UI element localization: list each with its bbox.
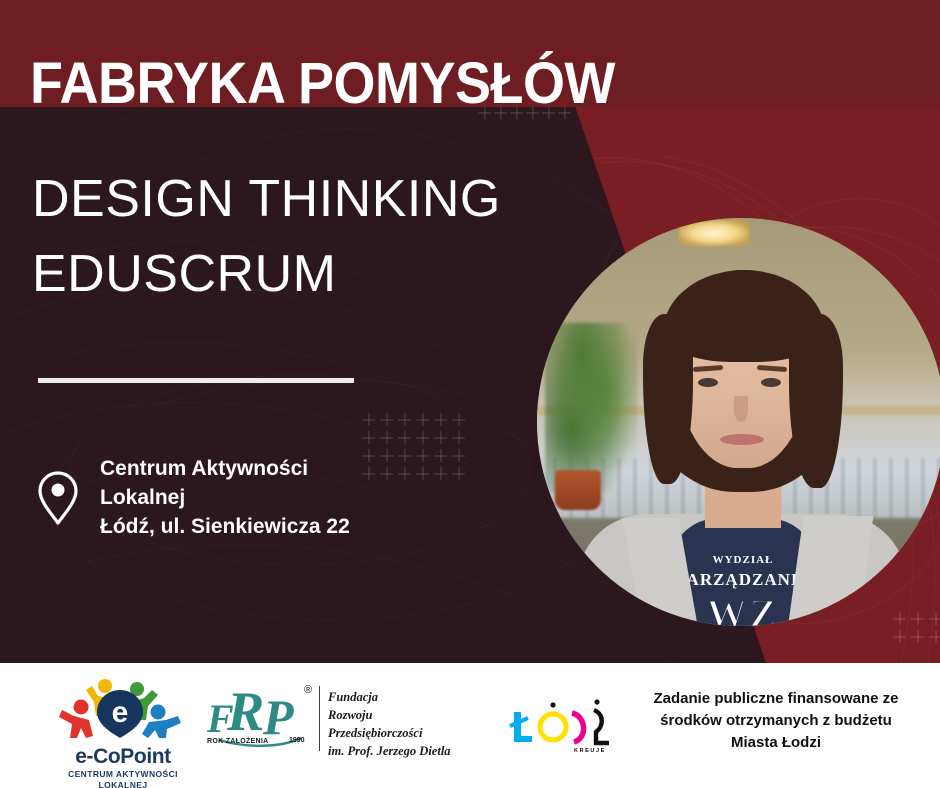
frp-vertical-divider — [319, 686, 320, 751]
photo-flower-pot — [555, 470, 601, 510]
svg-text:R: R — [226, 682, 264, 743]
photo-eye-left — [698, 378, 718, 387]
tshirt-line-1: WYDZIAŁ — [669, 554, 817, 566]
frp-mark-icon: F R P ® ROK ZAŁOŻENIA 1990 — [205, 682, 317, 756]
page-title: FABRYKA POMYSŁÓW — [30, 55, 615, 107]
divider-rule — [38, 378, 354, 383]
ecopoint-mark-icon: e — [48, 676, 198, 738]
photo-nose — [734, 396, 748, 422]
logo-ecopoint: e e-CoPoint CENTRUM AKTYWNOŚCI LOKALNEJ — [48, 676, 198, 788]
ecopoint-wordmark: e-CoPoint — [48, 745, 198, 769]
ecopoint-tagline: CENTRUM AKTYWNOŚCI LOKALNEJ — [48, 769, 198, 788]
headline: DESIGN THINKING EDUSCRUM — [32, 162, 501, 313]
location-block: Centrum Aktywności Lokalnej Łódź, ul. Si… — [36, 455, 506, 542]
logo-frp: F R P ® ROK ZAŁOŻENIA 1990 Fundacja Rozw… — [205, 682, 451, 761]
poster-canvas: WYDZIAŁ ZARZĄDZANIA WZ FABRYKA POMYSŁÓW … — [0, 0, 940, 788]
frp-foundation-name: Fundacja Rozwoju Przedsiębiorczości im. … — [328, 682, 451, 761]
header-band: FABRYKA POMYSŁÓW — [0, 0, 940, 107]
location-address: Centrum Aktywności Lokalnej Łódź, ul. Si… — [100, 455, 350, 542]
lodz-tagline: KREUJE — [574, 748, 606, 754]
frp-registered-mark: ® — [304, 684, 312, 696]
map-pin-icon — [36, 470, 80, 526]
portrait-photo: WYDZIAŁ ZARZĄDZANIA WZ — [537, 218, 940, 626]
photo-mouth — [720, 434, 764, 445]
photo-eye-right — [761, 378, 781, 387]
photo-lamp — [679, 220, 749, 246]
logo-lodz-kreuje: KREUJE — [508, 692, 618, 758]
funding-note: Zadanie publiczne finansowane ze środków… — [630, 688, 922, 753]
frp-established-label: ROK ZAŁOŻENIA — [207, 738, 268, 745]
svg-text:e: e — [112, 696, 129, 729]
frp-established-year: 1990 — [289, 737, 305, 744]
photo-plant — [545, 323, 637, 493]
